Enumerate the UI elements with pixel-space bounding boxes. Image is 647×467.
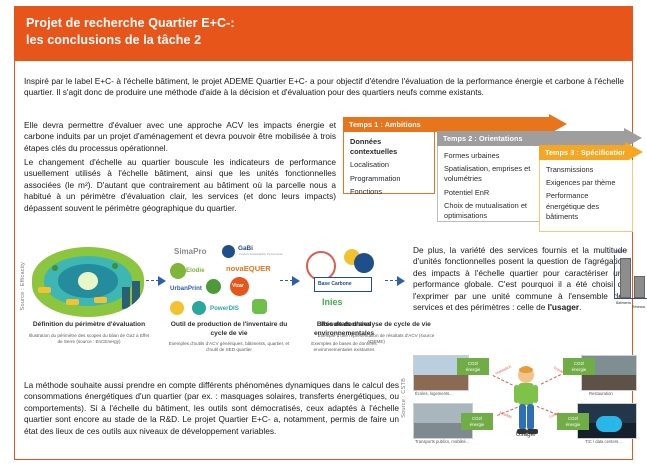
- temps-2-item-2: Potentiel EnR: [444, 188, 538, 198]
- cloud-icon: [596, 416, 622, 432]
- misc-logo-icon: [170, 301, 184, 315]
- paragraph-acv: Elle devra permettre d'évaluer avec une …: [24, 120, 336, 154]
- chart-x-axis: [614, 298, 647, 299]
- logo-urbanprint: UrbanPrint: [170, 285, 202, 292]
- slide-page: Projet de recherche Quartier E+C-: les c…: [0, 0, 647, 467]
- logo-vizar: Vizar: [232, 283, 244, 289]
- lifecycle-diagram: Définition du périmètre d'évaluation Ill…: [28, 245, 400, 370]
- lifecycle-step-2-subtitle: Exemples d'outils d'ACV génériques, bâti…: [168, 341, 290, 353]
- tree-icon: [112, 263, 118, 269]
- photo-caption-mobilite: Transports publics, mobilité...: [415, 439, 469, 444]
- tree-logo-icon: [206, 279, 221, 294]
- blob-core: [78, 272, 98, 290]
- paragraph-echelle: Le changement d'échelle au quartier bous…: [24, 157, 336, 214]
- temps-3-item-2: Performance énergétique des bâtiments: [546, 191, 626, 222]
- flow-line-2: [541, 374, 561, 385]
- co2-box-line2: énergie: [466, 367, 481, 373]
- photo-caption-datacenter: TIC / data centers...: [585, 439, 622, 444]
- page-title: Projet de recherche Quartier E+C-: les c…: [26, 15, 506, 49]
- temps-1-item-0: Données contextuelles: [350, 137, 428, 157]
- logo-powerdis: PowerDIS: [210, 305, 239, 312]
- chart-title: Impact X: [614, 249, 627, 253]
- car-icon: [38, 287, 51, 293]
- chart-xtick: Bâtiments: [616, 301, 631, 305]
- temps-1-item-2: Programmation: [350, 174, 428, 184]
- lifecycle-step-4-title: Résultats d'analyse de cycle de vie: [316, 321, 436, 330]
- car-icon: [94, 297, 107, 303]
- paragraph-usager-pre: De plus, la variété des services fournis…: [413, 245, 627, 312]
- paragraph-intro: Inspiré par le label E+C- à l'échelle bâ…: [24, 76, 624, 99]
- co2-box-datacenter: CO2/ énergie: [557, 413, 589, 430]
- co2-box-line2: énergie: [566, 422, 581, 428]
- building-icon: [122, 287, 130, 309]
- temps-1-arrow: Temps 1 : Ambitions: [343, 117, 567, 132]
- source-label-cstb: Source : CSTB: [401, 378, 407, 418]
- paragraph-usager-bold: l'usager: [548, 302, 580, 312]
- chart-bar: [620, 258, 631, 298]
- temps-2-box: Formes urbaines Spatialisation, emprises…: [437, 146, 545, 222]
- temps-1-item-3: Fonctions: [350, 187, 428, 197]
- chart-xtick: Réseaux: [632, 305, 645, 309]
- temps-1-item-1: Localisation: [350, 160, 428, 170]
- acv-results-bar-chart: Impact X Bâtiments Réseaux Mobilité Expl…: [608, 249, 647, 311]
- header-banner: Projet de recherche Quartier E+C-: les c…: [14, 6, 633, 61]
- logo-base-carbone: Base Carbone: [318, 281, 352, 287]
- temps-3-arrow-tip: [625, 142, 643, 162]
- temps-2-label: Temps 2 : Orientations: [437, 134, 523, 143]
- source-label-efficacity: Source : Efficacity: [20, 262, 26, 310]
- logo-equer: novaEQUER: [226, 264, 271, 273]
- temps-2-item-3: Choix de mutualisation et optimisations: [444, 201, 538, 221]
- temps-3-item-0: Transmissions: [546, 165, 626, 175]
- logo-inies: Inies: [322, 297, 343, 307]
- sphere-icon: [354, 253, 374, 273]
- photo-caption-restauration: Restauration: [589, 391, 613, 396]
- temps-1-label: Temps 1 : Ambitions: [343, 120, 421, 129]
- paragraph-usager: De plus, la variété des services fournis…: [413, 245, 627, 313]
- chart-bar: [634, 276, 645, 298]
- paragraph-usager-post: .: [579, 302, 581, 312]
- paragraph-dynamique: La méthode souhaite aussi prendre en com…: [24, 380, 399, 437]
- building-icon: [132, 281, 140, 309]
- gabi-sphere-icon: [222, 245, 235, 258]
- misc-logo-icon: [252, 299, 267, 314]
- lifecycle-step-1-subtitle: Illustration du périmètre des scopes du …: [28, 333, 150, 345]
- photo-caption-logement: Écoles, logements...: [415, 391, 453, 396]
- lifecycle-step-4-subtitle: Exemple d'une représentation de résultat…: [316, 333, 436, 345]
- logo-simapro: SimaPro: [174, 247, 206, 256]
- temps-3-arrow: Temps 3 : Spécifications: [539, 145, 643, 160]
- flow-arrow-1: [146, 275, 166, 286]
- co2-box-line2: énergie: [470, 422, 485, 428]
- car-icon: [66, 299, 79, 305]
- logo-gabi: GaBi: [238, 245, 253, 252]
- perimeter-illustration: [32, 247, 144, 317]
- flow-arrow-3: [385, 275, 405, 286]
- logo-elodie: Elodie: [186, 267, 205, 274]
- co2-box-logement: CO2/ énergie: [457, 358, 489, 375]
- base-carbone-badge: Base Carbone: [314, 277, 372, 292]
- chart-y-axis: [614, 255, 615, 299]
- temps-3-box: Transmissions Exigences par thème Perfor…: [539, 160, 633, 232]
- temps-1-box: Données contextuelles Localisation Progr…: [343, 132, 435, 194]
- usager-center-label: Usager: [495, 431, 557, 438]
- logo-gabi-tagline: Product Sustainability Performance: [238, 252, 284, 256]
- temps-3-label: Temps 3 : Spécifications: [539, 148, 631, 157]
- lifecycle-step-2-title: Outil de production de l'inventaire du c…: [168, 321, 290, 338]
- usager-diagram: Écoles, logements... Restauration Transp…: [413, 355, 635, 455]
- tree-icon: [52, 265, 58, 271]
- temps-2-arrow: Temps 2 : Orientations: [437, 131, 642, 146]
- temps-2-item-1: Spatialisation, emprises et volumétries: [444, 164, 538, 184]
- temps-3-item-1: Exigences par thème: [546, 178, 626, 188]
- flow-arrow-2: [280, 275, 300, 286]
- co2-box-mobilite: CO2/ énergie: [461, 413, 493, 430]
- temps-2-item-0: Formes urbaines: [444, 151, 538, 161]
- elodie-mark-icon: [170, 263, 186, 279]
- lifecycle-step-1-title: Définition du périmètre d'évaluation: [28, 321, 150, 330]
- co2-box-line2: énergie: [572, 367, 587, 373]
- co2-box-restauration: CO2/ énergie: [563, 358, 595, 375]
- usager-figure-icon: [509, 365, 543, 435]
- misc-logo-icon: [192, 301, 206, 315]
